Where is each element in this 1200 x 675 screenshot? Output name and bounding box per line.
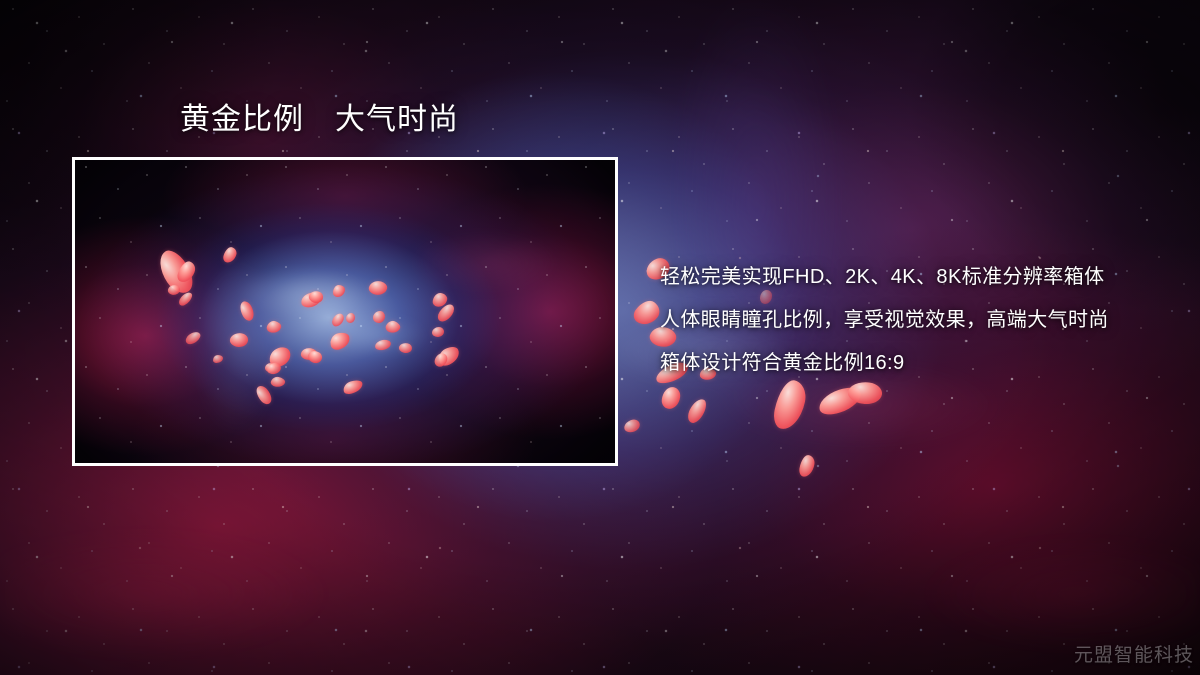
flower-petal [661, 386, 681, 410]
description-block: 轻松完美实现FHD、2K、4K、8K标准分辨率箱体 人体眼睛瞳孔比例，享受视觉效… [660, 256, 1180, 385]
flower-petal [623, 418, 641, 434]
watermark: 元盟智能科技 [1074, 640, 1194, 667]
presentation-slide: 黄金比例 大气时尚 轻松完美实现FHD、2K、4K、8K标准分辨率箱体 人体眼睛… [0, 0, 1200, 675]
flower-petal [685, 396, 709, 426]
flower-petal [816, 384, 865, 419]
description-line-2: 人体眼睛瞳孔比例，享受视觉效果，高端大气时尚 [660, 299, 1180, 342]
description-line-3: 箱体设计符合黄金比例16:9 [660, 342, 1180, 385]
page-title: 黄金比例 大气时尚 [180, 102, 459, 138]
flower-petal [798, 454, 816, 478]
flower-petal [771, 378, 809, 433]
description-line-1: 轻松完美实现FHD、2K、4K、8K标准分辨率箱体 [660, 256, 1180, 299]
flower-petal [630, 296, 663, 330]
framed-nebula-wisps [75, 160, 615, 463]
golden-ratio-preview-frame [72, 157, 618, 466]
